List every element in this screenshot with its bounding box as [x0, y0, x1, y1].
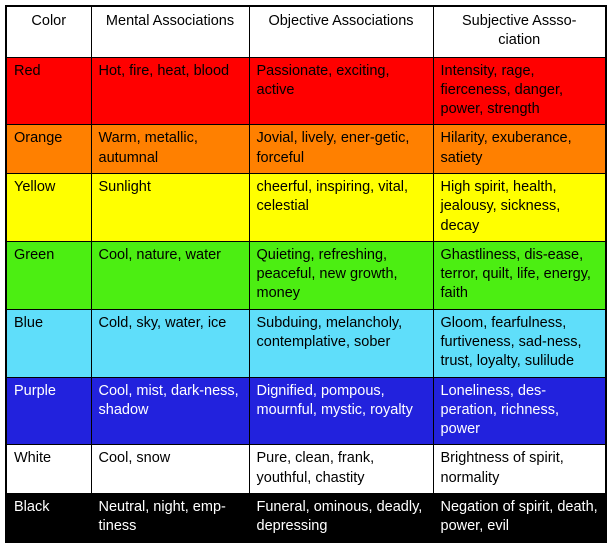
column-header-objective-associations: Objective Associations [249, 6, 433, 57]
column-header-subjective-association: Subjective Assso-ciation [433, 6, 606, 57]
cell-objective-associations: Dignified, pompous, mournful, mystic, ro… [249, 377, 433, 445]
table-row: OrangeWarm, metallic, autumnalJovial, li… [6, 125, 606, 174]
table-header-row: Color Mental Associations Objective Asso… [6, 6, 606, 57]
table-header: Color Mental Associations Objective Asso… [6, 6, 606, 57]
cell-mental-associations: Sunlight [91, 173, 249, 241]
table-row: BlueCold, sky, water, iceSubduing, melan… [6, 309, 606, 377]
column-header-color: Color [6, 6, 91, 57]
table-row: YellowSunlightcheerful, inspiring, vital… [6, 173, 606, 241]
cell-subjective-association: High spirit, health, jealousy, sickness,… [433, 173, 606, 241]
cell-color-name: Red [6, 57, 91, 125]
cell-color-name: White [6, 445, 91, 494]
cell-objective-associations: Jovial, lively, ener-getic, forceful [249, 125, 433, 174]
cell-subjective-association: Negation of spirit, death, power, evil [433, 493, 606, 542]
table-row: BlackNeutral, night, emp-tinessFuneral, … [6, 493, 606, 542]
cell-objective-associations: Subduing, melancholy, contemplative, sob… [249, 309, 433, 377]
cell-objective-associations: Funeral, ominous, deadly, depressing [249, 493, 433, 542]
cell-objective-associations: cheerful, inspiring, vital, celestial [249, 173, 433, 241]
cell-mental-associations: Hot, fire, heat, blood [91, 57, 249, 125]
cell-objective-associations: Pure, clean, frank, youthful, chastity [249, 445, 433, 494]
cell-color-name: Yellow [6, 173, 91, 241]
cell-mental-associations: Neutral, night, emp-tiness [91, 493, 249, 542]
table-row: GreenCool, nature, waterQuieting, refres… [6, 241, 606, 309]
cell-objective-associations: Passionate, exciting, active [249, 57, 433, 125]
color-associations-table-container: Color Mental Associations Objective Asso… [5, 5, 605, 543]
cell-subjective-association: Intensity, rage, fierceness, danger, pow… [433, 57, 606, 125]
cell-color-name: Black [6, 493, 91, 542]
cell-subjective-association: Ghastliness, dis-ease, terror, quilt, li… [433, 241, 606, 309]
cell-mental-associations: Cool, nature, water [91, 241, 249, 309]
cell-mental-associations: Cold, sky, water, ice [91, 309, 249, 377]
cell-subjective-association: Brightness of spirit, normality [433, 445, 606, 494]
cell-subjective-association: Loneliness, des-peration, richness, powe… [433, 377, 606, 445]
column-header-mental-associations: Mental Associations [91, 6, 249, 57]
cell-color-name: Purple [6, 377, 91, 445]
cell-objective-associations: Quieting, refreshing, peaceful, new grow… [249, 241, 433, 309]
cell-mental-associations: Cool, snow [91, 445, 249, 494]
cell-color-name: Blue [6, 309, 91, 377]
cell-color-name: Orange [6, 125, 91, 174]
cell-subjective-association: Gloom, fearfulness, furtiveness, sad-nes… [433, 309, 606, 377]
cell-mental-associations: Warm, metallic, autumnal [91, 125, 249, 174]
cell-color-name: Green [6, 241, 91, 309]
table-row: PurpleCool, mist, dark-ness, shadowDigni… [6, 377, 606, 445]
table-row: RedHot, fire, heat, bloodPassionate, exc… [6, 57, 606, 125]
table-row: WhiteCool, snowPure, clean, frank, youth… [6, 445, 606, 494]
cell-subjective-association: Hilarity, exuberance, satiety [433, 125, 606, 174]
table-body: RedHot, fire, heat, bloodPassionate, exc… [6, 57, 606, 542]
color-associations-table: Color Mental Associations Objective Asso… [5, 5, 607, 543]
cell-mental-associations: Cool, mist, dark-ness, shadow [91, 377, 249, 445]
